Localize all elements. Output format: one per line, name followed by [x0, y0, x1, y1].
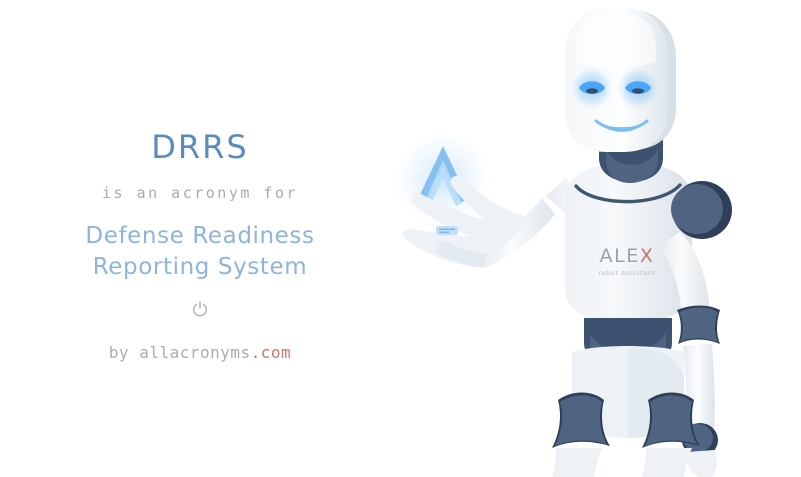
chest-logo-text: ALEX — [599, 245, 654, 267]
chest-logo-subtitle: robot assistant — [598, 269, 655, 277]
robot-head — [565, 8, 676, 152]
acronym-definition-card: DRRS is an acronym for Defense Readiness… — [0, 0, 801, 477]
acronym-connector-text: is an acronym for — [0, 186, 400, 201]
robot-svg: ALEX robot assistant — [380, 0, 801, 477]
definition-line-1: Defense Readiness — [0, 221, 400, 252]
text-column: DRRS is an acronym for Defense Readiness… — [0, 0, 400, 477]
definition-line-2: Reporting System — [0, 252, 400, 283]
byline-prefix: by allacronyms — [109, 343, 251, 362]
palm-emitter-detail — [436, 226, 458, 235]
acronym-definition: Defense Readiness Reporting System — [0, 221, 400, 284]
power-icon: ⏻ — [0, 301, 400, 320]
byline: by allacronyms.com — [0, 345, 400, 361]
acronym-title: DRRS — [0, 131, 400, 163]
byline-tld: .com — [251, 343, 292, 362]
robot-illustration: ALEX robot assistant — [380, 0, 801, 477]
chest-logo: ALEX robot assistant — [598, 245, 655, 277]
